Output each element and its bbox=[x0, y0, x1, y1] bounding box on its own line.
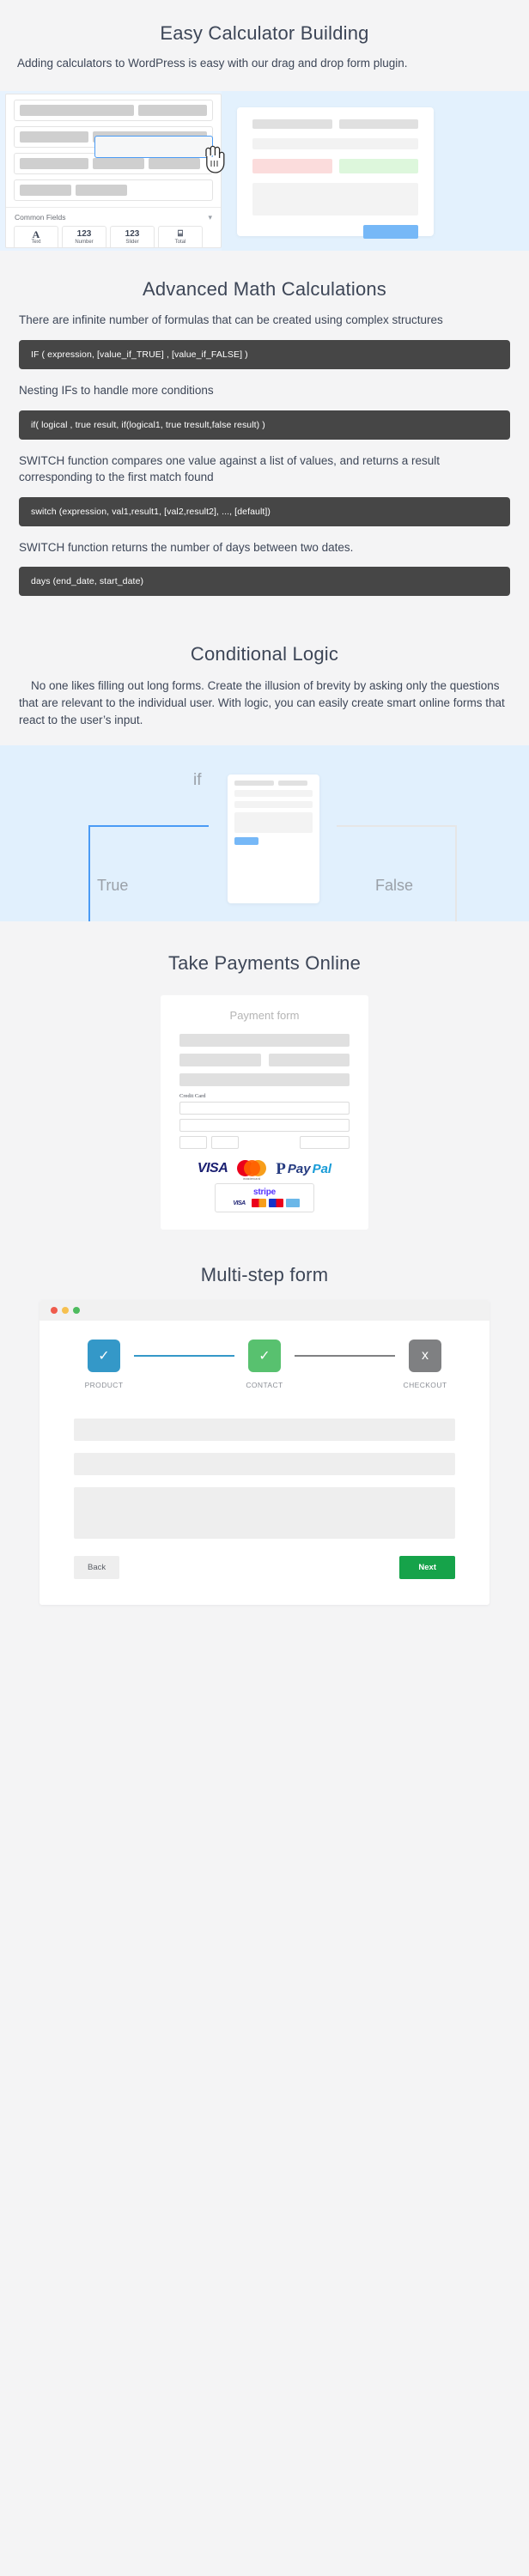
step-checkout[interactable]: x CHECKOUT bbox=[395, 1340, 455, 1389]
paypal-word-pal: Pal bbox=[313, 1162, 332, 1176]
stripe-card-icons: VISA bbox=[220, 1199, 309, 1207]
section-subtitle: Adding calculators to WordPress is easy … bbox=[0, 55, 529, 72]
card-row bbox=[234, 781, 313, 786]
preview-row bbox=[252, 138, 418, 149]
payment-brand-logos: VISA mastercard P Pay Pal bbox=[179, 1159, 350, 1178]
payment-form-title: Payment form bbox=[179, 1009, 350, 1022]
mastercard-logo: mastercard bbox=[237, 1159, 266, 1178]
field-placeholder bbox=[20, 105, 134, 116]
stripe-wordmark: stripe bbox=[220, 1188, 309, 1197]
section-take-payments-online: Take Payments Online Payment form Credit… bbox=[0, 921, 529, 1230]
formula-description: SWITCH function returns the number of da… bbox=[0, 539, 529, 556]
field-placeholder bbox=[149, 158, 200, 169]
card-exp-month-input[interactable] bbox=[179, 1136, 207, 1149]
browser-window-mockup: ✓ PRODUCT ✓ CONTACT x CHECKOUT bbox=[40, 1300, 489, 1605]
true-label: True bbox=[97, 877, 128, 895]
amex-mini-icon bbox=[286, 1199, 300, 1207]
field-tile-number[interactable]: 123 Number bbox=[62, 226, 106, 248]
field-tile-total[interactable]: ⌸ Total bbox=[158, 226, 203, 248]
branch-true-connector bbox=[88, 825, 209, 921]
card-number-input[interactable] bbox=[179, 1102, 350, 1115]
field-placeholder bbox=[93, 158, 144, 169]
if-label: if bbox=[193, 771, 202, 790]
preview-placeholder-success bbox=[339, 159, 419, 173]
logic-source-form-card bbox=[228, 775, 319, 903]
step-indicator: ✓ PRODUCT ✓ CONTACT x CHECKOUT bbox=[74, 1340, 455, 1389]
back-button[interactable]: Back bbox=[74, 1556, 119, 1579]
credit-card-label: Credit Card bbox=[179, 1093, 350, 1099]
field-placeholder bbox=[20, 131, 88, 143]
next-button[interactable]: Next bbox=[399, 1556, 455, 1579]
preview-row bbox=[252, 159, 418, 173]
field-placeholder bbox=[138, 105, 207, 116]
paypal-word-pay: Pay bbox=[288, 1162, 311, 1176]
section-advanced-math: Advanced Math Calculations There are inf… bbox=[0, 251, 529, 627]
payment-row bbox=[179, 1073, 350, 1086]
page-title: Easy Calculator Building bbox=[0, 22, 529, 45]
stripe-logo: stripe VISA bbox=[215, 1183, 314, 1212]
step-label: CHECKOUT bbox=[404, 1381, 447, 1389]
preview-placeholder bbox=[252, 138, 418, 149]
preview-row bbox=[252, 225, 418, 239]
form-field-placeholder[interactable] bbox=[74, 1453, 455, 1475]
preview-placeholder bbox=[339, 119, 419, 129]
preview-row bbox=[252, 119, 418, 129]
payment-row bbox=[179, 1034, 350, 1047]
conditional-logic-diagram: if True False bbox=[0, 745, 529, 921]
step-label: CONTACT bbox=[246, 1381, 283, 1389]
window-maximize-dot[interactable] bbox=[73, 1307, 80, 1314]
payment-row bbox=[179, 1054, 350, 1066]
branch-false-connector bbox=[337, 825, 457, 921]
form-textarea-placeholder[interactable] bbox=[74, 1487, 455, 1539]
formula-block-days: days (end_date, start_date) bbox=[19, 567, 510, 596]
visa-logo: VISA bbox=[198, 1161, 228, 1176]
section-subtitle: No one likes filling out long forms. Cre… bbox=[0, 677, 529, 728]
section-title: Multi-step form bbox=[0, 1264, 529, 1286]
builder-left-pane: Common Fields ▾ A Text 123 Number bbox=[0, 91, 222, 251]
paypal-mark-icon: P bbox=[276, 1161, 286, 1177]
preview-placeholder-textarea bbox=[252, 183, 418, 216]
formula-description: SWITCH function compares one value again… bbox=[0, 453, 529, 486]
form-footer: Back Next bbox=[74, 1556, 455, 1579]
section-subtitle: There are infinite number of formulas th… bbox=[0, 312, 529, 329]
section-title: Advanced Math Calculations bbox=[0, 278, 529, 301]
step-icon-complete: ✓ bbox=[248, 1340, 281, 1372]
card-expiry-row bbox=[179, 1136, 350, 1149]
payment-placeholder bbox=[179, 1054, 261, 1066]
mastercard-wordmark: mastercard bbox=[237, 1177, 266, 1181]
preview-row bbox=[252, 183, 418, 216]
field-tile-label: Slider bbox=[125, 240, 138, 245]
field-tile-label: Number bbox=[75, 240, 93, 245]
visa-mini-icon: VISA bbox=[229, 1199, 249, 1207]
field-tile-slider[interactable]: 123 Slider bbox=[110, 226, 155, 248]
card-exp-year-input[interactable] bbox=[211, 1136, 239, 1149]
browser-content: ✓ PRODUCT ✓ CONTACT x CHECKOUT bbox=[40, 1321, 489, 1605]
card-placeholder bbox=[234, 812, 313, 833]
total-field-icon: ⌸ bbox=[178, 230, 183, 239]
field-placeholder bbox=[76, 185, 127, 196]
formula-description: Nesting IFs to handle more conditions bbox=[0, 382, 529, 399]
text-field-icon: A bbox=[33, 230, 40, 239]
drag-hand-icon bbox=[201, 144, 227, 178]
number-field-icon: 123 bbox=[77, 230, 92, 239]
section-multi-step-form: Multi-step form ✓ PRODUCT ✓ CONTACT bbox=[0, 1230, 529, 1631]
builder-preview-pane bbox=[222, 91, 529, 251]
step-product[interactable]: ✓ PRODUCT bbox=[74, 1340, 134, 1389]
card-placeholder bbox=[278, 781, 307, 786]
maestro-mini-icon bbox=[269, 1199, 283, 1207]
payment-form-card: Payment form Credit Card VISA bbox=[161, 995, 368, 1230]
step-connector-pending bbox=[295, 1355, 395, 1357]
preview-submit-button[interactable] bbox=[363, 225, 418, 239]
landing-page: Easy Calculator Building Adding calculat… bbox=[0, 0, 529, 1631]
window-close-dot[interactable] bbox=[51, 1307, 58, 1314]
form-builder-mockup: Common Fields ▾ A Text 123 Number bbox=[0, 91, 529, 251]
chevron-down-icon[interactable]: ▾ bbox=[208, 213, 212, 222]
common-fields-header[interactable]: Common Fields ▾ bbox=[6, 208, 221, 226]
card-cvc-input[interactable] bbox=[300, 1136, 350, 1149]
preview-placeholder bbox=[252, 119, 332, 129]
step-connector-complete bbox=[134, 1355, 234, 1357]
preview-placeholder-error bbox=[252, 159, 332, 173]
builder-row[interactable] bbox=[14, 100, 213, 121]
slider-field-icon: 123 bbox=[125, 230, 140, 239]
card-name-input[interactable] bbox=[179, 1119, 350, 1132]
browser-titlebar bbox=[40, 1300, 489, 1321]
step-contact[interactable]: ✓ CONTACT bbox=[234, 1340, 295, 1389]
step-icon-complete: ✓ bbox=[88, 1340, 120, 1372]
step-icon-pending: x bbox=[409, 1340, 441, 1372]
mastercard-mini-icon bbox=[252, 1199, 266, 1207]
field-tile-label: Total bbox=[175, 240, 186, 245]
section-conditional-logic: Conditional Logic No one likes filling o… bbox=[0, 626, 529, 921]
payment-placeholder bbox=[179, 1034, 350, 1047]
builder-fields-panel: Common Fields ▾ A Text 123 Number bbox=[5, 94, 222, 248]
form-preview-card bbox=[237, 107, 434, 236]
section-easy-calculator-building: Easy Calculator Building Adding calculat… bbox=[0, 0, 529, 251]
card-placeholder bbox=[234, 781, 274, 786]
drag-ghost-field[interactable] bbox=[94, 136, 213, 158]
form-field-placeholder[interactable] bbox=[74, 1419, 455, 1441]
field-placeholder bbox=[20, 158, 88, 169]
window-minimize-dot[interactable] bbox=[62, 1307, 69, 1314]
field-tile-grid: A Text 123 Number 123 Slider ⌸ bbox=[6, 226, 221, 248]
payment-placeholder bbox=[269, 1054, 350, 1066]
formula-block-switch: switch (expression, val1,result1, [val2,… bbox=[19, 497, 510, 526]
builder-row[interactable] bbox=[14, 179, 213, 201]
card-placeholder bbox=[234, 801, 313, 808]
formula-block-if: IF ( expression, [value_if_TRUE] , [valu… bbox=[19, 340, 510, 369]
step-label: PRODUCT bbox=[85, 1381, 124, 1389]
spacer bbox=[243, 1136, 295, 1149]
paypal-logo: P Pay Pal bbox=[276, 1161, 331, 1177]
false-label: False bbox=[375, 877, 413, 895]
card-submit-button[interactable] bbox=[234, 837, 258, 845]
section-title: Conditional Logic bbox=[0, 643, 529, 665]
field-tile-label: Text bbox=[31, 240, 40, 245]
formula-block-nested-if: if( logical , true result, if(logical1, … bbox=[19, 410, 510, 440]
section-title: Take Payments Online bbox=[0, 952, 529, 975]
payment-placeholder bbox=[179, 1073, 350, 1086]
common-fields-label: Common Fields bbox=[15, 213, 66, 222]
card-placeholder bbox=[234, 790, 313, 797]
field-placeholder bbox=[20, 185, 71, 196]
field-tile-text[interactable]: A Text bbox=[14, 226, 58, 248]
mastercard-circle-overlap bbox=[244, 1160, 260, 1176]
